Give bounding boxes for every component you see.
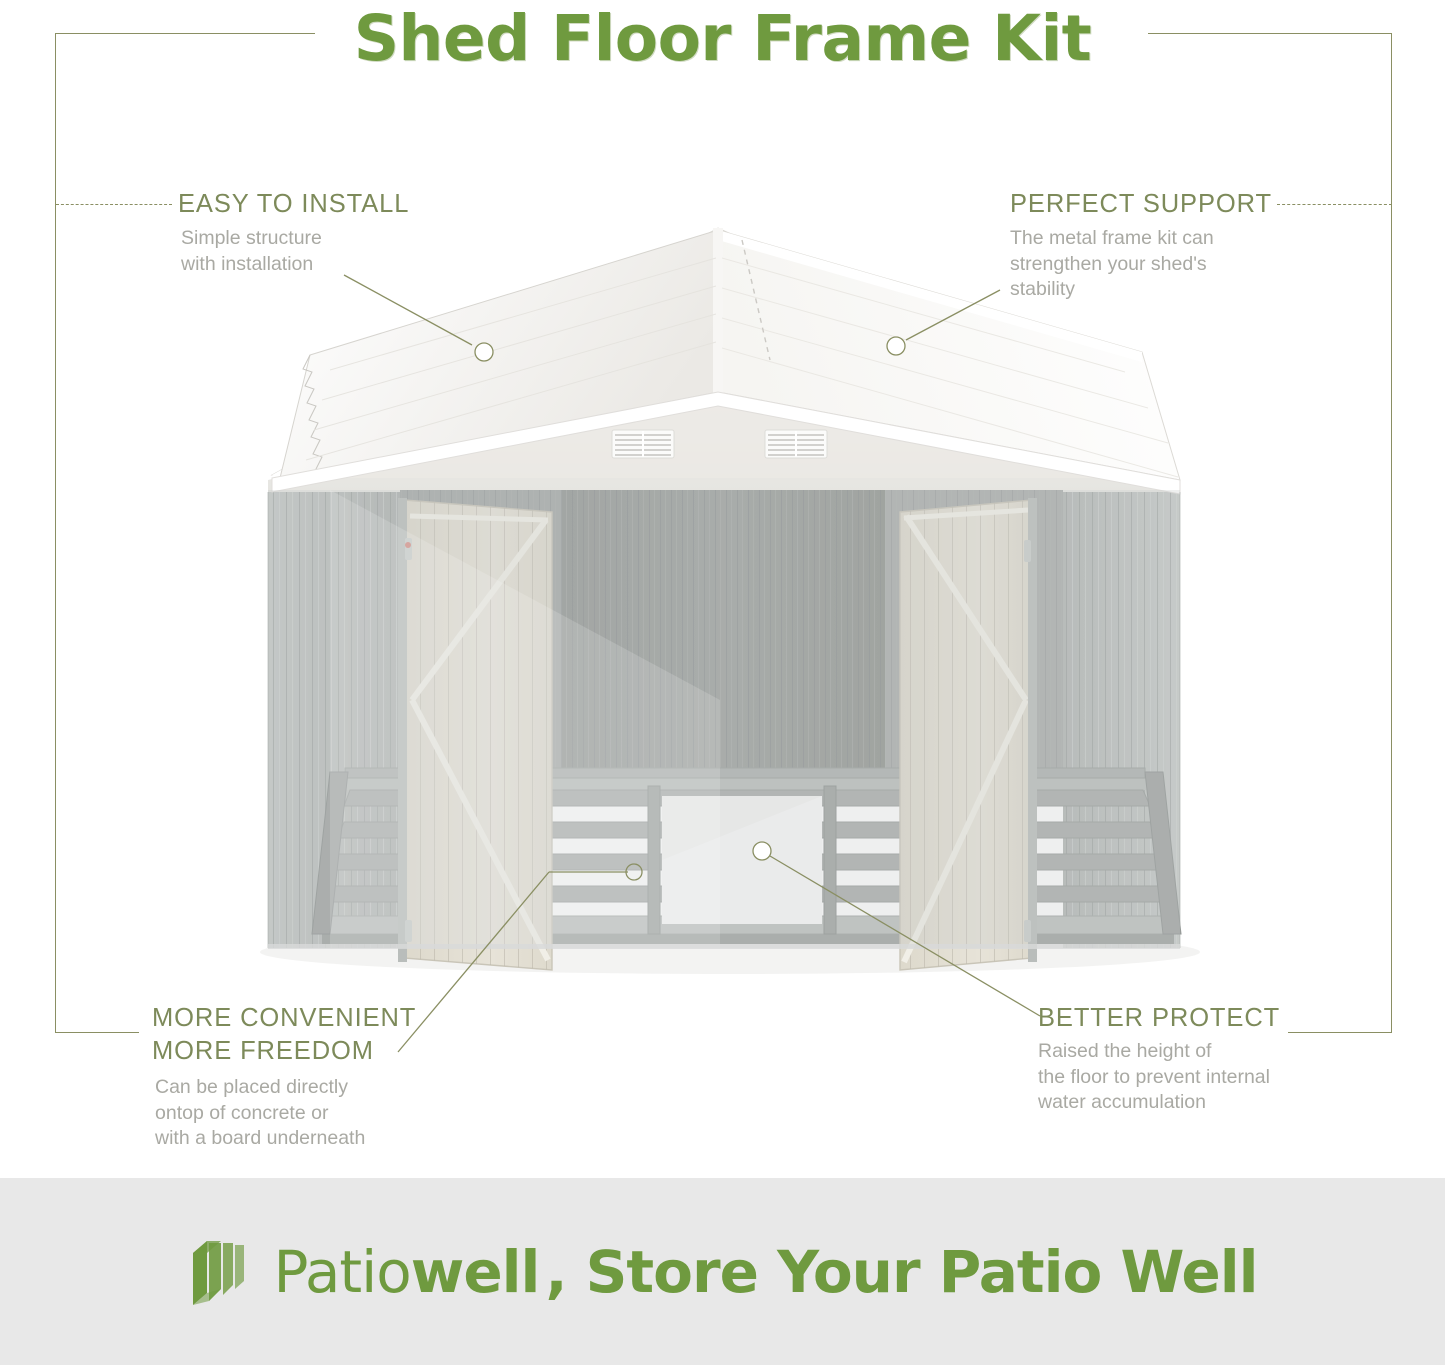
- brand-tagline: , Store Your Patio Well: [545, 1243, 1257, 1301]
- page-title: Shed Floor Frame Kit: [0, 2, 1445, 75]
- callout-perfect-support: PERFECT SUPPORT The metal frame kit can …: [1010, 188, 1272, 303]
- callout-easy-install-headline: EASY TO INSTALL: [178, 188, 409, 221]
- brand-name-bold: well: [411, 1243, 540, 1301]
- callout-easy-install: EASY TO INSTALL Simple structure with in…: [178, 188, 409, 277]
- brand-lockup: Patio well , Store Your Patio Well: [187, 1235, 1257, 1309]
- callout-better-protect-headline: BETTER PROTECT: [1038, 1002, 1280, 1035]
- layered-pages-logo-icon: [187, 1235, 261, 1309]
- callout-more-convenient-headline: MORE CONVENIENT MORE FREEDOM: [152, 1002, 416, 1068]
- infographic-canvas: Shed Floor Frame Kit: [0, 0, 1445, 1178]
- callout-better-protect-body: Raised the height of the floor to preven…: [1038, 1039, 1280, 1116]
- brand-name-light: Patio: [273, 1243, 410, 1301]
- callout-perfect-support-headline: PERFECT SUPPORT: [1010, 188, 1272, 221]
- callout-better-protect: BETTER PROTECT Raised the height of the …: [1038, 1002, 1280, 1116]
- callout-more-convenient: MORE CONVENIENT MORE FREEDOM Can be plac…: [152, 1002, 416, 1152]
- callout-more-convenient-body: Can be placed directly ontop of concrete…: [155, 1075, 416, 1152]
- callout-perfect-support-body: The metal frame kit can strengthen your …: [1010, 226, 1272, 303]
- callout-easy-install-body: Simple structure with installation: [181, 226, 409, 277]
- footer-brand-bar: Patio well , Store Your Patio Well: [0, 1178, 1445, 1365]
